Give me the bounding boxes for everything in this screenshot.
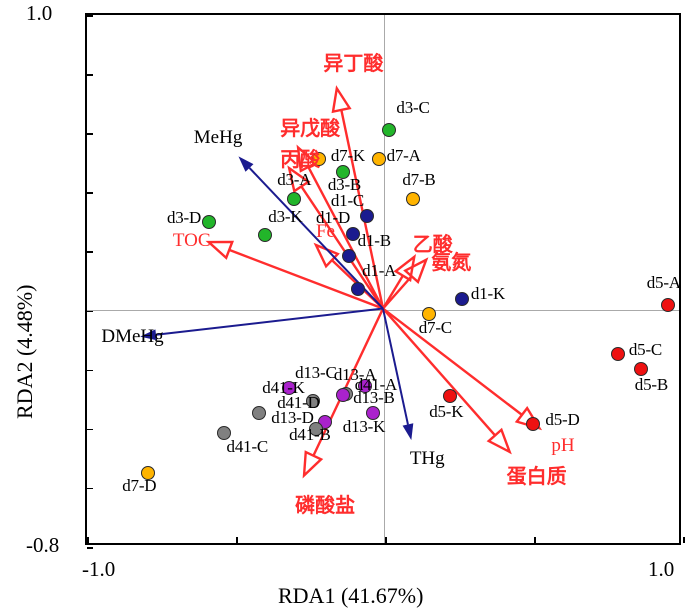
rda-biplot-figure: 1.0 -0.8 -1.0 1.0 RDA1 (41.67%) RDA2 (4.… [0, 0, 700, 603]
data-point-label: d3-C [396, 98, 429, 118]
y-axis-tick-bottom: -0.8 [26, 533, 59, 558]
data-point [336, 388, 350, 402]
vector-label: 异丁酸 [323, 47, 383, 76]
vector-label: 异戊酸 [280, 112, 340, 141]
y-axis-tick [87, 133, 93, 135]
data-point-label: d7-B [402, 170, 435, 190]
x-axis-tick-right: 1.0 [648, 557, 674, 582]
data-point-label: d41-C [227, 437, 269, 457]
data-point-label: d3-D [167, 208, 201, 228]
y-axis-title: RDA2 (4.48%) [12, 284, 38, 418]
data-point [202, 215, 216, 229]
y-axis-tick [87, 370, 93, 372]
data-point-label: d1-B [358, 231, 391, 251]
vector-label: 丙酸 [280, 143, 320, 172]
data-point-label: d7-C [419, 318, 452, 338]
y-axis-tick [87, 74, 93, 76]
y-axis-tick [87, 15, 93, 17]
vector-label: pH [551, 435, 574, 457]
data-point-label: d3-K [268, 207, 302, 227]
data-point [342, 249, 356, 263]
blue-vector-label: THg [410, 448, 445, 470]
vector-label: 氨氮 [431, 246, 471, 275]
x-axis-tick [385, 537, 387, 543]
data-point [351, 282, 365, 296]
data-point-label: d5-K [429, 402, 463, 422]
y-axis-tick [87, 192, 93, 194]
x-axis-tick [236, 537, 238, 543]
blue-vector-label: MeHg [194, 127, 243, 149]
vector-label: TOC [173, 230, 211, 252]
data-point-label: d7-K [331, 146, 365, 166]
data-point-label: d7-A [387, 146, 421, 166]
data-point-label: d13-K [343, 417, 385, 437]
data-point [661, 298, 675, 312]
x-axis-tick [534, 537, 536, 543]
data-point-label: d1-K [471, 284, 505, 304]
data-point [382, 123, 396, 137]
data-point-label: d41-B [289, 425, 331, 445]
y-axis-tick [87, 488, 93, 490]
vector-label: 磷酸盐 [295, 489, 355, 518]
data-point-label: d5-C [629, 340, 662, 360]
y-axis-tick [87, 547, 93, 549]
data-point [360, 209, 374, 223]
x-axis-tick [87, 537, 89, 543]
blue-vector-label: DMeHg [101, 326, 163, 348]
x-axis-title: RDA1 (41.67%) [278, 583, 423, 609]
data-point [372, 152, 386, 166]
data-point-label: d5-B [635, 375, 668, 395]
data-point-label: d5-D [545, 410, 579, 430]
vector-label: Fe [316, 221, 335, 243]
vector-label: 蛋白质 [507, 460, 567, 489]
x-axis-tick [683, 537, 685, 543]
data-point-label: d3-A [277, 170, 311, 190]
horizontal-zero-line [87, 310, 679, 311]
y-axis-tick-top: 1.0 [26, 1, 52, 26]
data-point [406, 192, 420, 206]
y-axis-tick [87, 311, 93, 313]
y-axis-tick [87, 251, 93, 253]
y-axis-tick [87, 429, 93, 431]
data-point [252, 406, 266, 420]
data-point-label: d5-A [647, 273, 681, 293]
data-point-label: d1-A [362, 261, 396, 281]
data-point-label: d7-D [122, 476, 156, 496]
x-axis-tick-left: -1.0 [82, 557, 115, 582]
data-point-label: d13-B [353, 388, 395, 408]
data-point [455, 292, 469, 306]
data-point [287, 192, 301, 206]
